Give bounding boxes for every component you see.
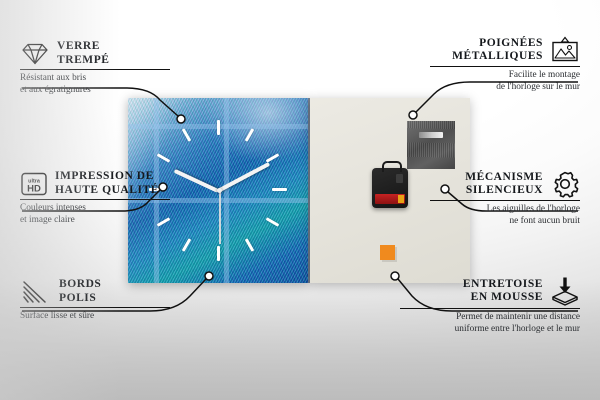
- callout-rule: [430, 200, 580, 201]
- foam-spacer: [380, 245, 395, 260]
- picture-frame-hanger-icon: [550, 36, 580, 64]
- callout-subtitle: Les aiguilles de l'horloge ne font aucun…: [430, 204, 580, 227]
- mechanism-bail: [382, 161, 402, 172]
- callout-title: POIGNÉES MÉTALLIQUES: [452, 37, 543, 64]
- ultra-hd-icon: ultra HD: [20, 171, 48, 197]
- hour-tick-5: [245, 238, 255, 252]
- callout-subtitle: Surface lisse et sûre: [20, 311, 170, 323]
- svg-text:HD: HD: [27, 183, 41, 194]
- callout-rule: [20, 69, 170, 70]
- callout-header: ultra HD IMPRESSION DE HAUTE QUALITÉ: [20, 170, 170, 197]
- callout-rule: [20, 307, 170, 308]
- callout-poignees-metalliques: POIGNÉES MÉTALLIQUES Facilite le montage…: [430, 36, 580, 94]
- callout-rule: [400, 308, 580, 309]
- clock-mechanism: [372, 168, 408, 208]
- callout-title: ENTRETOISE EN MOUSSE: [463, 278, 543, 305]
- hanger-slot: [419, 132, 443, 138]
- callout-header: BORDS POLIS: [20, 278, 170, 305]
- clock-hub: [217, 188, 222, 193]
- product-image: [128, 98, 470, 283]
- hour-tick-2: [266, 153, 280, 163]
- mechanism-knob: [396, 174, 403, 183]
- diamond-icon: [20, 41, 50, 67]
- gear-icon: [550, 170, 580, 198]
- metal-hanger-plate: [407, 121, 455, 169]
- callout-subtitle: Résistant aux bris et aux égratignures: [20, 73, 170, 96]
- hour-tick-12: [217, 120, 220, 135]
- callout-subtitle: Permet de maintenir une distance uniform…: [400, 312, 580, 335]
- callout-rule: [430, 66, 580, 67]
- callout-mecanisme-silencieux: MÉCANISME SILENCIEUX Les aiguilles de l'…: [430, 170, 580, 228]
- callout-header: ENTRETOISE EN MOUSSE: [400, 276, 580, 306]
- hour-tick-7: [182, 238, 192, 252]
- callout-subtitle: Facilite le montage de l'horloge sur le …: [430, 70, 580, 93]
- callout-title: BORDS POLIS: [59, 278, 101, 305]
- minute-hand: [217, 162, 270, 193]
- infographic-canvas: VERRE TREMPÉ Résistant aux bris et aux é…: [0, 0, 600, 400]
- polished-edge-icon: [20, 279, 52, 305]
- hour-tick-11: [182, 128, 192, 142]
- callout-title: VERRE TREMPÉ: [57, 40, 110, 67]
- hour-hand: [174, 169, 219, 193]
- battery: [375, 194, 405, 204]
- callout-subtitle: Couleurs intenses et image claire: [20, 203, 170, 226]
- hour-tick-10: [157, 153, 171, 163]
- callout-header: VERRE TREMPÉ: [20, 40, 170, 67]
- hour-tick-4: [266, 217, 280, 227]
- callout-title: IMPRESSION DE HAUTE QUALITÉ: [55, 170, 159, 197]
- callout-rule: [20, 199, 170, 200]
- callout-bords-polis: BORDS POLIS Surface lisse et sûre: [20, 278, 170, 323]
- hour-tick-1: [245, 128, 255, 142]
- hour-tick-6: [217, 246, 220, 261]
- callout-entretoise-en-mousse: ENTRETOISE EN MOUSSE Permet de maintenir…: [400, 276, 580, 336]
- callout-header: MÉCANISME SILENCIEUX: [430, 170, 580, 198]
- foam-spacer-icon: [550, 276, 580, 306]
- hour-tick-3: [272, 188, 287, 191]
- second-hand: [219, 190, 221, 244]
- callout-header: POIGNÉES MÉTALLIQUES: [430, 36, 580, 64]
- callout-verre-trempe: VERRE TREMPÉ Résistant aux bris et aux é…: [20, 40, 170, 97]
- callout-impression-haute-qualite: ultra HD IMPRESSION DE HAUTE QUALITÉ Cou…: [20, 170, 170, 227]
- callout-title: MÉCANISME SILENCIEUX: [465, 171, 543, 198]
